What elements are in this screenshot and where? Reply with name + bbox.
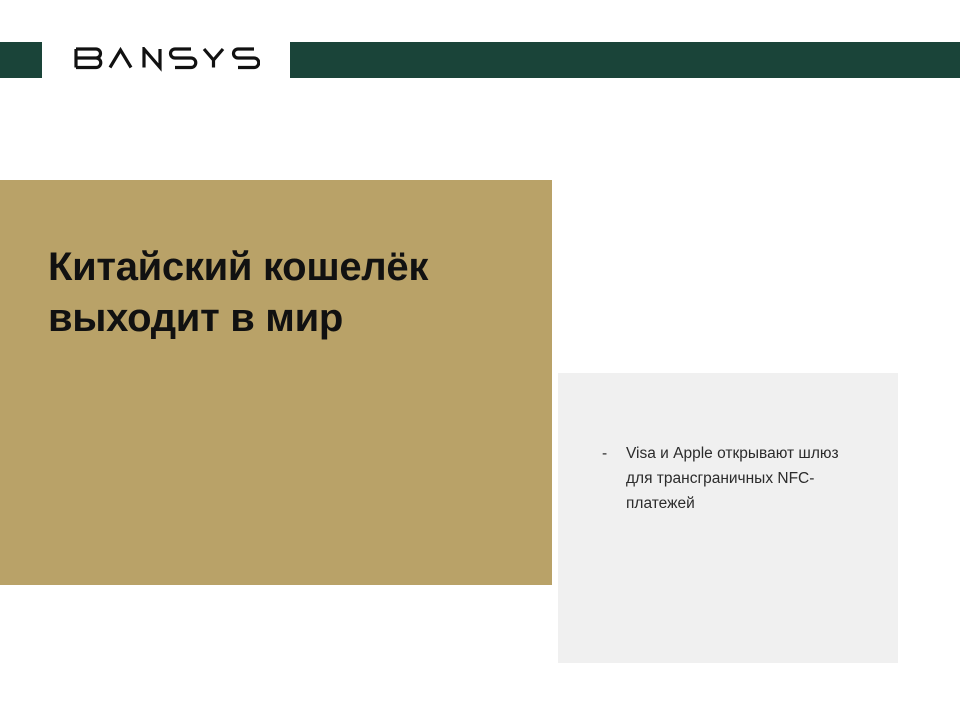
body-panel: - Visa и Apple открывают шлюз для трансг… bbox=[558, 373, 898, 663]
bullet-marker-icon: - bbox=[602, 441, 612, 466]
bansys-logo-wordmark bbox=[74, 47, 260, 73]
list-item: - Visa и Apple открывают шлюз для трансг… bbox=[602, 441, 852, 516]
header-band-left bbox=[0, 42, 42, 78]
slide-canvas: Китайский кошелёк выходит в мир - Visa и… bbox=[0, 0, 960, 720]
header-band-right bbox=[290, 42, 960, 78]
slide-title: Китайский кошелёк выходит в мир bbox=[48, 242, 518, 344]
bullet-text: Visa и Apple открывают шлюз для трансгра… bbox=[626, 441, 852, 516]
title-panel: Китайский кошелёк выходит в мир bbox=[0, 180, 552, 585]
bansys-logo bbox=[74, 44, 260, 76]
bullet-list: - Visa и Apple открывают шлюз для трансг… bbox=[602, 441, 852, 516]
